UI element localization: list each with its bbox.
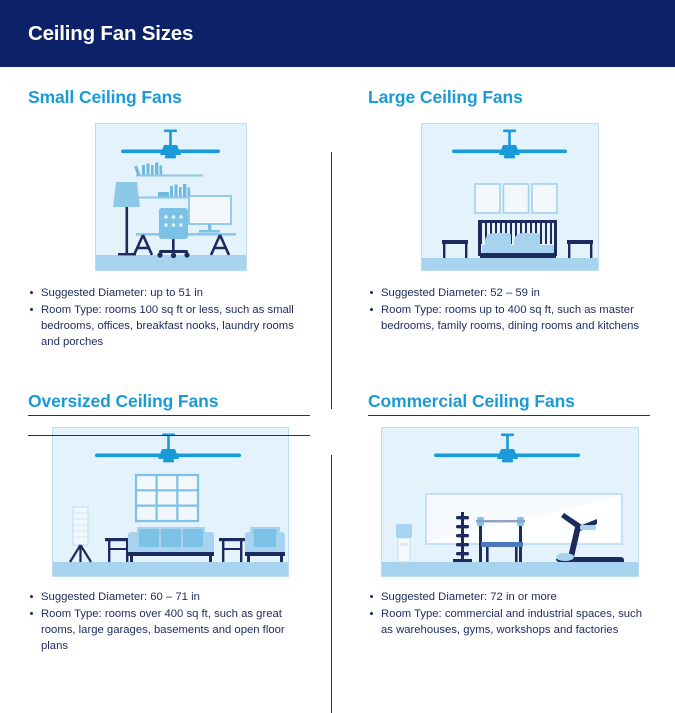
illustration-oversized-wrap xyxy=(28,427,313,577)
section-large: Large Ceiling Fans xyxy=(338,67,675,371)
page-header: Ceiling Fan Sizes xyxy=(0,0,675,67)
sections-grid: Small Ceiling Fans xyxy=(0,67,675,675)
bullet-item: Suggested Diameter: 52 – 59 in xyxy=(368,285,651,301)
section-title-small: Small Ceiling Fans xyxy=(28,67,313,108)
divider-horizontal-oversized xyxy=(28,435,310,436)
bullet-item: Room Type: rooms 100 sq ft or less, such… xyxy=(28,302,313,350)
bullet-list-large: Suggested Diameter: 52 – 59 in Room Type… xyxy=(368,285,651,334)
office-chair-icon xyxy=(157,208,189,258)
bullet-item: Suggested Diameter: 60 – 71 in xyxy=(28,589,313,605)
living-room-icon xyxy=(52,427,289,577)
bullet-item: Room Type: rooms up to 400 sq ft, such a… xyxy=(368,302,651,334)
illustration-small-wrap xyxy=(28,123,313,271)
section-title-commercial: Commercial Ceiling Fans xyxy=(368,371,651,412)
divider-vertical-top xyxy=(331,152,332,409)
section-title-oversized: Oversized Ceiling Fans xyxy=(28,371,313,412)
section-title-large: Large Ceiling Fans xyxy=(368,67,651,108)
bullet-item: Suggested Diameter: 72 in or more xyxy=(368,589,651,605)
bedroom-room-icon xyxy=(421,123,599,271)
bullet-item: Suggested Diameter: up to 51 in xyxy=(28,285,313,301)
section-oversized: Oversized Ceiling Fans xyxy=(0,371,337,675)
bullet-item: Room Type: commercial and industrial spa… xyxy=(368,606,651,638)
divider-horizontal-large xyxy=(368,415,650,416)
illustration-large-wrap xyxy=(368,123,651,271)
home-office-room-icon xyxy=(95,123,247,271)
window-icon xyxy=(136,475,198,521)
bullet-list-small: Suggested Diameter: up to 51 in Room Typ… xyxy=(28,285,313,350)
bullet-list-oversized: Suggested Diameter: 60 – 71 in Room Type… xyxy=(28,589,313,654)
page-title: Ceiling Fan Sizes xyxy=(28,22,193,46)
bullet-list-commercial: Suggested Diameter: 72 in or more Room T… xyxy=(368,589,651,638)
divider-horizontal-small xyxy=(28,415,310,416)
bullet-item: Room Type: rooms over 400 sq ft, such as… xyxy=(28,606,313,654)
section-commercial: Commercial Ceiling Fans xyxy=(338,371,675,675)
wall-art-icon xyxy=(475,184,557,213)
section-small: Small Ceiling Fans xyxy=(0,67,337,371)
gym-room-icon xyxy=(381,427,639,577)
divider-vertical-bottom xyxy=(331,455,332,713)
water-cooler-icon xyxy=(396,524,412,562)
illustration-commercial-wrap xyxy=(368,427,651,577)
